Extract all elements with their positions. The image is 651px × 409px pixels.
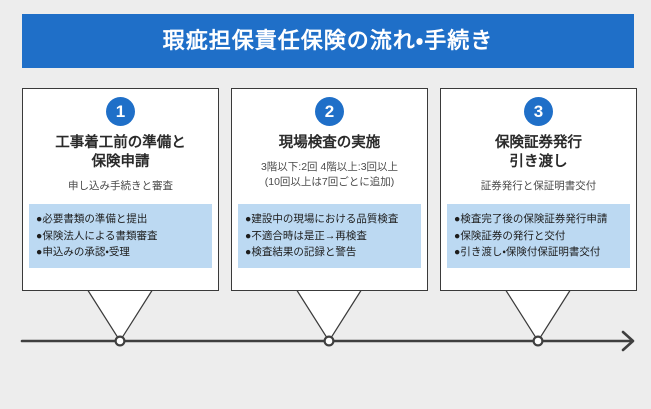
timeline-marker-3 — [534, 337, 543, 346]
timeline-axis — [0, 0, 651, 409]
timeline-marker-1 — [116, 337, 125, 346]
timeline-marker-2 — [325, 337, 334, 346]
infographic-root: 瑕疵担保責任保険の流れ・手続き 1 工事着工前の準備と 保険申請 申し込み手続き… — [0, 0, 651, 409]
